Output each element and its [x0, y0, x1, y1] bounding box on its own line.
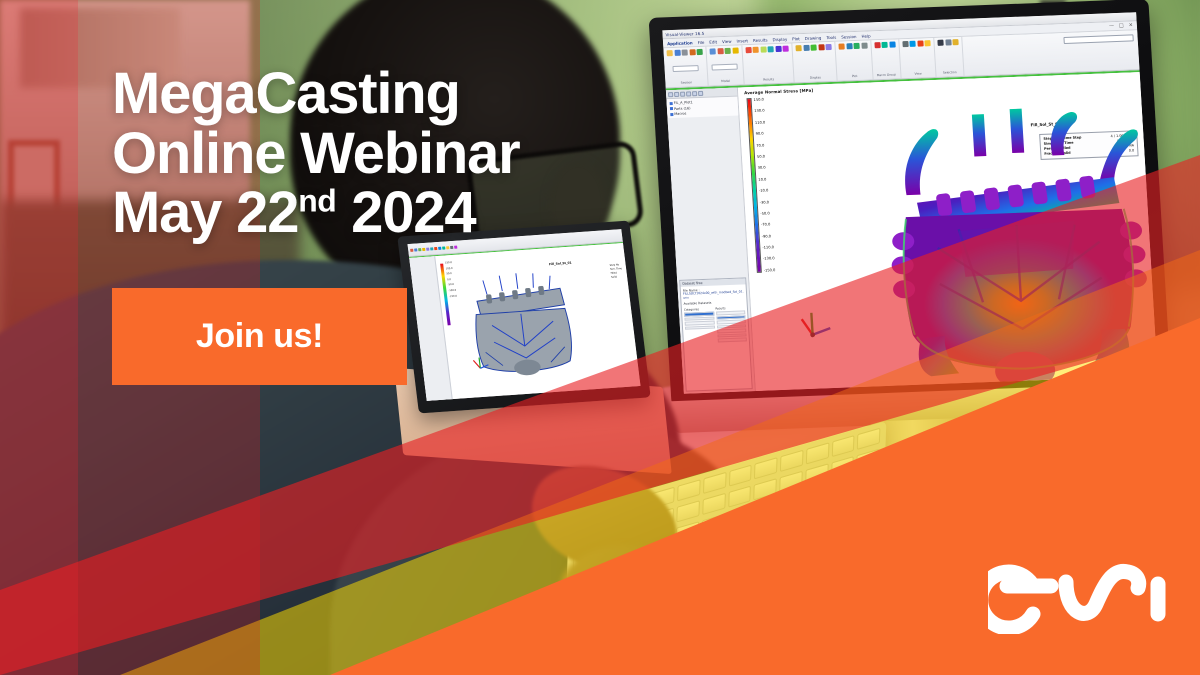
dataset-file-value: FILLSOLT1024x00_with_modbed_Sol_01.unv	[683, 290, 744, 300]
key[interactable]	[806, 442, 829, 464]
toolbar-icon[interactable]	[422, 247, 425, 250]
menu-item-help[interactable]: Help	[861, 33, 870, 38]
headline-line-1: MegaCasting	[112, 64, 520, 124]
toolbar-icon[interactable]	[430, 247, 433, 250]
toolbar-icon[interactable]	[450, 245, 453, 248]
menu-item-session[interactable]: Session	[841, 33, 857, 39]
headline-line-2: Online Webinar	[112, 124, 520, 184]
node-icon[interactable]	[717, 48, 723, 54]
menu-item-drawing[interactable]: Drawing	[805, 35, 822, 41]
colorbar-tick: -50.0	[448, 283, 456, 287]
clear-select-icon[interactable]	[952, 39, 958, 45]
toolbar-icon[interactable]	[438, 246, 441, 249]
colorbar-tick: -50.0	[760, 211, 772, 215]
join-us-button[interactable]: Join us!	[112, 288, 407, 385]
casting-model-render[interactable]	[859, 89, 1158, 393]
key[interactable]	[780, 450, 803, 472]
ribbon-group-label: View	[914, 71, 921, 75]
dataset-panel: Dataset Tree File Name : FILLSOLT1024x00…	[679, 277, 753, 391]
tree-node-label: Macros	[674, 112, 686, 116]
webinar-banner: Visual-Viewer 16.5 Application File Edit…	[0, 0, 1200, 675]
laptop-workarea: 150.0 100.0 50.0 0.0 -50.0 -100.0 -150.0…	[409, 243, 640, 401]
open-icon[interactable]	[667, 50, 673, 56]
colorbar-title: Average Normal Stress [MPa]	[744, 88, 813, 96]
colorbar-tick: 10.0	[758, 177, 770, 181]
colorbar-legend: 150.0 130.0 110.0 90.0 70.0 50.0 30.0 10…	[746, 98, 775, 273]
menu-item-insert[interactable]: Insert	[736, 38, 748, 43]
menu-item-application[interactable]: Application	[667, 40, 693, 46]
node-toggle-icon[interactable]	[669, 102, 672, 105]
colorbar-tick: -150.0	[764, 268, 776, 272]
ribbon-group-label: Plot	[852, 74, 858, 78]
light-icon[interactable]	[818, 44, 824, 50]
box-select-icon[interactable]	[945, 39, 951, 45]
hand-reflection	[560, 545, 690, 635]
dataset-panel-title: Dataset Tree	[680, 278, 745, 286]
colorbar-tick: -130.0	[763, 257, 775, 261]
macro-play-icon[interactable]	[881, 42, 887, 48]
element-icon[interactable]	[724, 48, 730, 54]
ribbon-icons[interactable]	[937, 39, 958, 46]
toolbar-icon[interactable]	[446, 246, 449, 249]
date-year: 2024	[351, 180, 475, 245]
app-workarea: FIL_A_Plot1 Parts (16) Macros	[666, 72, 1158, 394]
rotate-icon[interactable]	[917, 40, 923, 46]
tree-node-label: Parts (16)	[674, 106, 691, 111]
key[interactable]	[701, 514, 724, 536]
menu-item-file[interactable]: File	[697, 39, 704, 44]
ribbon-icons[interactable]	[902, 40, 931, 47]
ribbon-group-label: Results	[763, 77, 774, 81]
toolbar-icon[interactable]	[426, 247, 429, 250]
print-icon[interactable]	[682, 49, 688, 55]
key[interactable]	[856, 449, 879, 471]
tree-expand-icon[interactable]	[667, 92, 672, 97]
title-icon[interactable]	[853, 43, 859, 49]
key[interactable]	[831, 435, 854, 457]
ribbon-icons[interactable]	[709, 48, 738, 55]
key[interactable]	[857, 428, 880, 450]
colorbar-tick: 150.0	[445, 261, 453, 265]
ribbon-group-plot: Plot	[835, 40, 873, 80]
dataset-col-categories[interactable]: Categories	[684, 307, 716, 344]
headline-date: May 22nd 2024	[112, 183, 520, 243]
colorbar-tick: 70.0	[756, 143, 768, 147]
dataset-grid[interactable]: Categories Results	[684, 306, 747, 344]
contour-icon[interactable]	[745, 47, 751, 53]
mesh-icon[interactable]	[709, 48, 715, 54]
section-icon[interactable]	[767, 46, 773, 52]
toolbar-icon[interactable]	[418, 248, 421, 251]
group-icon[interactable]	[732, 48, 738, 54]
colorbar-tick: 50.0	[757, 154, 769, 158]
toolbar-icon[interactable]	[434, 247, 437, 250]
date-ordinal-suffix: nd	[298, 183, 336, 219]
ribbon-group-view: View	[899, 38, 937, 78]
ribbon-group-label: Selection	[943, 70, 957, 75]
ribbon-group-label: Model	[721, 79, 730, 83]
dataset-cell[interactable]	[685, 325, 715, 330]
toolbar-icon[interactable]	[410, 248, 413, 251]
monitor-screen: Visual-Viewer 16.5 Application File Edit…	[662, 12, 1157, 394]
toolbar-icon[interactable]	[442, 246, 445, 249]
colorbar-tick: 100.0	[446, 266, 454, 270]
key[interactable]	[779, 471, 802, 493]
menu-item-display[interactable]: Display	[772, 36, 787, 42]
key[interactable]	[703, 472, 726, 494]
laptop: 150.0 100.0 50.0 0.0 -50.0 -100.0 -150.0…	[408, 228, 640, 406]
dataset-cell[interactable]	[717, 338, 747, 343]
key[interactable]	[677, 479, 700, 501]
menu-item-tools[interactable]: Tools	[826, 34, 836, 39]
key[interactable]	[848, 491, 878, 515]
tree-node-label: FIL_A_Plot1	[674, 100, 693, 105]
node-toggle-icon[interactable]	[669, 107, 672, 110]
filter-icon[interactable]	[679, 91, 684, 96]
colorbar-tick: -10.0	[759, 188, 771, 192]
ribbon-group-session: Session	[663, 47, 708, 88]
esi-logo	[988, 538, 1176, 634]
probe-icon[interactable]	[775, 46, 781, 52]
key[interactable]	[728, 464, 751, 486]
key[interactable]	[805, 463, 828, 485]
menu-item-plot[interactable]: Plot	[792, 36, 800, 41]
colorbar-tick: 130.0	[754, 109, 766, 113]
model-combo[interactable]	[712, 63, 738, 70]
tree-collapse-icon[interactable]	[673, 91, 678, 96]
key[interactable]	[676, 521, 699, 543]
colorbar-tick: -90.0	[762, 234, 774, 238]
dataset-col-results[interactable]: Results	[715, 306, 747, 343]
laptop-info-panel: Step No Sim. Time Filled Solid	[610, 263, 624, 279]
ribbon-group-display: Display	[792, 42, 837, 83]
search-input[interactable]	[1063, 34, 1133, 44]
macro-edit-icon[interactable]	[889, 41, 895, 47]
colorbar-tick: 90.0	[756, 132, 768, 136]
axis-triad-icon	[797, 306, 839, 347]
save-icon[interactable]	[674, 50, 680, 56]
key[interactable]	[702, 493, 725, 515]
colorbar-tick: 0.0	[447, 278, 455, 282]
pan-icon[interactable]	[924, 40, 930, 46]
ribbon-group-macro: Macro Group	[871, 39, 901, 79]
settings-icon[interactable]	[691, 91, 696, 96]
colorbar-tick: 110.0	[755, 120, 767, 124]
ribbon-group-label: Session	[681, 80, 693, 84]
ribbon-group-selection: Selection	[934, 37, 964, 77]
key[interactable]	[753, 499, 776, 521]
macro-record-icon[interactable]	[874, 42, 880, 48]
shade-icon[interactable]	[795, 45, 801, 51]
key[interactable]	[727, 507, 750, 529]
colorbar-tick: -150.0	[449, 294, 457, 298]
toolbar-icon[interactable]	[414, 248, 417, 251]
window-controls[interactable]: — □ ✕	[1109, 22, 1133, 29]
key[interactable]	[804, 484, 827, 506]
info-row: Solid	[611, 275, 623, 280]
isosurface-icon[interactable]	[760, 46, 766, 52]
ribbon-group-model: Model	[706, 45, 744, 85]
page-title: MegaCasting Online Webinar May 22nd 2024	[112, 64, 520, 243]
wireframe-icon[interactable]	[803, 45, 809, 51]
ribbon-icons[interactable]	[874, 41, 895, 48]
ribbon-group-results: Results	[742, 43, 795, 84]
session-combo[interactable]	[672, 65, 698, 72]
legend-icon[interactable]	[838, 43, 844, 49]
laptop-casting-model[interactable]	[454, 252, 588, 379]
colorbar-tick: -100.0	[448, 289, 456, 293]
key[interactable]	[728, 485, 751, 507]
desktop-monitor: Visual-Viewer 16.5 Application File Edit…	[649, 0, 1172, 407]
join-us-button-label: Join us!	[196, 317, 323, 356]
menu-item-edit[interactable]: Edit	[709, 39, 717, 44]
ribbon-icons[interactable]	[795, 44, 831, 51]
axis-icon[interactable]	[846, 43, 852, 49]
refresh-icon[interactable]	[685, 91, 690, 96]
toolbar-icon[interactable]	[454, 245, 457, 248]
pin-icon[interactable]	[697, 90, 702, 95]
node-toggle-icon[interactable]	[670, 113, 673, 116]
key[interactable]	[831, 456, 854, 478]
dock-spacer	[668, 116, 748, 278]
ribbon-icons[interactable]	[745, 46, 789, 54]
key[interactable]	[830, 477, 853, 499]
key[interactable]	[753, 478, 776, 500]
transparency-icon[interactable]	[810, 45, 816, 51]
key[interactable]	[856, 470, 879, 492]
app-window-title: Visual-Viewer 16.5	[665, 30, 704, 36]
key[interactable]	[778, 492, 801, 514]
redo-icon[interactable]	[696, 49, 702, 55]
key[interactable]	[676, 500, 699, 522]
fit-icon[interactable]	[909, 41, 915, 47]
ribbon-group-label: Macro Group	[877, 72, 896, 77]
animate-icon[interactable]	[782, 46, 788, 52]
ribbon-group-label: Display	[810, 75, 821, 79]
colorbar-tick: -110.0	[762, 245, 774, 249]
maximize-icon[interactable]: □	[1119, 23, 1124, 29]
colorbar-tick: 150.0	[753, 98, 765, 102]
key[interactable]	[784, 509, 814, 533]
ribbon-icons[interactable]	[838, 43, 867, 50]
key[interactable]	[816, 500, 846, 524]
colorbar-tick: -70.0	[761, 223, 773, 227]
colorbar-tick: 50.0	[446, 272, 454, 276]
minimize-icon[interactable]: —	[1109, 23, 1114, 29]
color-icon[interactable]	[825, 44, 831, 50]
menu-item-results[interactable]: Results	[753, 37, 768, 43]
vector-icon[interactable]	[752, 47, 758, 53]
laptop-screen: 150.0 100.0 50.0 0.0 -50.0 -100.0 -150.0…	[407, 229, 640, 401]
select-icon[interactable]	[937, 40, 943, 46]
undo-icon[interactable]	[689, 49, 695, 55]
close-icon[interactable]: ✕	[1128, 22, 1133, 28]
key[interactable]	[754, 457, 777, 479]
date-prefix: May 22	[112, 180, 298, 245]
ribbon-icons[interactable]	[667, 49, 703, 56]
menu-item-view[interactable]: View	[722, 38, 732, 43]
colorbar-tick: 30.0	[758, 166, 770, 170]
grid-icon[interactable]	[861, 43, 867, 49]
zoom-in-icon[interactable]	[902, 41, 908, 47]
colorbar-tick: -30.0	[760, 200, 772, 204]
plot-viewport[interactable]: Average Normal Stress [MPa] 150.0 130.0 …	[738, 72, 1158, 391]
